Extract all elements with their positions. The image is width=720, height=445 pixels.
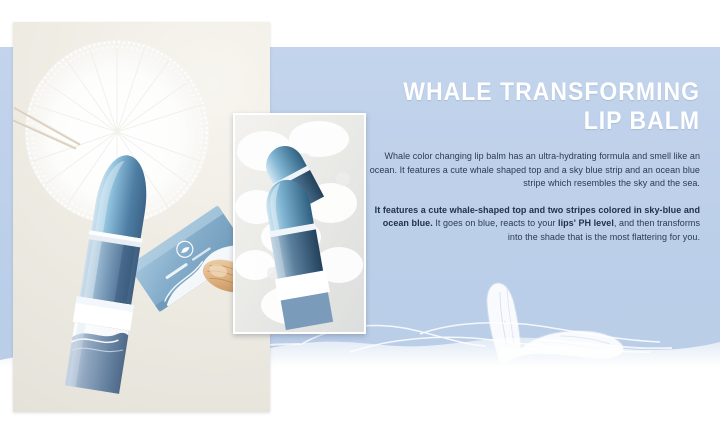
advertisement-banner: WHALE TRANSFORMING LIP BALM Whale color …	[0, 0, 720, 445]
lipstick-product	[55, 150, 165, 395]
copy-block: WHALE TRANSFORMING LIP BALM Whale color …	[366, 78, 700, 245]
product-photo-card	[13, 22, 270, 412]
title-line-2: LIP BALM	[393, 107, 700, 136]
description-paragraph-1: Whale color changing lip balm has an ult…	[366, 150, 700, 191]
paragraph2-bold-2: lips' PH level	[558, 218, 614, 228]
page-title: WHALE TRANSFORMING LIP BALM	[393, 78, 700, 136]
inset-detail-photo	[233, 113, 366, 334]
paragraph2-regular-1: It goes on blue, reacts to your	[433, 218, 558, 228]
description-paragraph-2: It features a cute whale-shaped top and …	[366, 204, 700, 245]
title-line-1: WHALE TRANSFORMING	[403, 78, 700, 106]
